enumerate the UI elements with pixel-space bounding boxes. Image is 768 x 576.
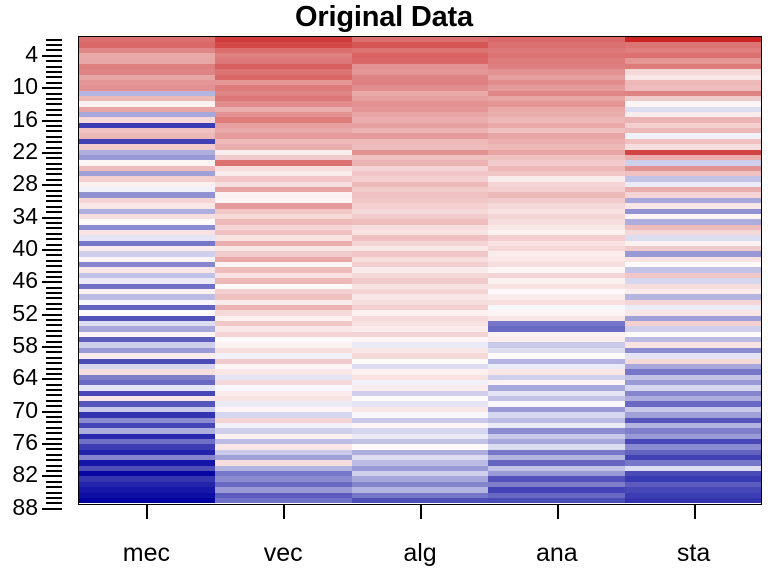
y-axis-tick bbox=[46, 303, 62, 305]
y-axis-tick bbox=[46, 222, 62, 224]
y-axis-tick bbox=[46, 362, 62, 364]
heatmap-cell bbox=[352, 498, 488, 503]
y-axis-tick bbox=[46, 179, 62, 181]
y-axis-tick bbox=[46, 330, 62, 332]
y-axis-tick-major bbox=[42, 120, 62, 122]
x-axis-tick bbox=[557, 505, 559, 519]
y-axis-tick bbox=[46, 276, 62, 278]
y-axis-tick bbox=[46, 39, 62, 41]
x-axis-tick bbox=[420, 505, 422, 519]
y-axis-tick-major bbox=[42, 475, 62, 477]
y-axis-tick bbox=[46, 432, 62, 434]
y-axis-tick-major bbox=[42, 87, 62, 89]
y-axis-tick bbox=[46, 157, 62, 159]
y-axis-tick bbox=[46, 389, 62, 391]
x-axis-label-mec: mec bbox=[123, 539, 170, 568]
heatmap-cell bbox=[625, 498, 761, 503]
y-axis-tick bbox=[46, 448, 62, 450]
y-axis-tick bbox=[46, 82, 62, 84]
y-axis-tick bbox=[46, 60, 62, 62]
x-axis: mecvecalganasta bbox=[78, 505, 762, 576]
y-axis-tick-major bbox=[42, 411, 62, 413]
y-axis-tick bbox=[46, 481, 62, 483]
y-axis-label: 22 bbox=[12, 140, 38, 163]
y-axis-tick bbox=[46, 233, 62, 235]
y-axis-tick bbox=[46, 454, 62, 456]
y-axis-tick bbox=[46, 357, 62, 359]
y-axis-tick bbox=[46, 227, 62, 229]
y-axis-label: 76 bbox=[12, 431, 38, 454]
y-axis-label: 28 bbox=[12, 172, 38, 195]
y-axis-tick bbox=[46, 470, 62, 472]
y-axis-tick bbox=[46, 147, 62, 149]
y-axis: 41016222834404652586470768288 bbox=[0, 36, 78, 505]
y-axis-tick bbox=[46, 260, 62, 262]
y-axis-tick bbox=[46, 109, 62, 111]
y-axis-tick bbox=[46, 206, 62, 208]
x-axis-label-vec: vec bbox=[264, 539, 303, 568]
y-axis-tick bbox=[46, 384, 62, 386]
y-axis-label: 10 bbox=[12, 75, 38, 98]
y-axis-tick bbox=[46, 427, 62, 429]
y-axis-tick bbox=[46, 130, 62, 132]
y-axis-tick-major bbox=[42, 281, 62, 283]
y-axis-tick-major bbox=[42, 249, 62, 251]
y-axis-tick bbox=[46, 405, 62, 407]
y-axis-tick bbox=[46, 66, 62, 68]
y-axis-tick bbox=[46, 368, 62, 370]
y-axis-tick bbox=[46, 319, 62, 321]
y-axis-label: 46 bbox=[12, 269, 38, 292]
heatmap-cell bbox=[488, 498, 624, 503]
y-axis-tick bbox=[46, 486, 62, 488]
heatmap-cell-grid bbox=[79, 37, 761, 504]
y-axis-tick bbox=[46, 324, 62, 326]
x-axis-tick bbox=[283, 505, 285, 519]
y-axis-label: 82 bbox=[12, 463, 38, 486]
y-axis-tick bbox=[46, 200, 62, 202]
y-axis-label: 34 bbox=[12, 205, 38, 228]
y-axis-tick bbox=[46, 351, 62, 353]
y-axis-label: 58 bbox=[12, 334, 38, 357]
y-axis-tick bbox=[46, 335, 62, 337]
y-axis-tick bbox=[46, 497, 62, 499]
x-axis-tick bbox=[146, 505, 148, 519]
heatmap-row bbox=[79, 498, 761, 503]
y-axis-tick bbox=[46, 308, 62, 310]
y-axis-tick bbox=[46, 438, 62, 440]
y-axis-tick bbox=[46, 71, 62, 73]
y-axis-tick-major bbox=[42, 152, 62, 154]
y-axis-label: 52 bbox=[12, 302, 38, 325]
y-axis-tick bbox=[46, 400, 62, 402]
y-axis-tick bbox=[46, 292, 62, 294]
y-axis-tick-major bbox=[42, 346, 62, 348]
y-axis-label: 64 bbox=[12, 366, 38, 389]
y-axis-tick bbox=[46, 502, 62, 504]
y-axis-tick bbox=[46, 394, 62, 396]
y-axis-tick bbox=[46, 297, 62, 299]
chart-title: Original Data bbox=[0, 1, 768, 34]
y-axis-tick-major bbox=[42, 55, 62, 57]
y-axis-tick bbox=[46, 459, 62, 461]
figure-canvas: Original Data 41016222834404652586470768… bbox=[0, 0, 768, 576]
y-axis-tick bbox=[46, 98, 62, 100]
y-axis-tick bbox=[46, 271, 62, 273]
y-axis-tick bbox=[46, 244, 62, 246]
y-axis-tick bbox=[46, 173, 62, 175]
y-axis-tick bbox=[46, 49, 62, 51]
y-axis-tick bbox=[46, 254, 62, 256]
y-axis-label: 4 bbox=[25, 43, 38, 66]
y-axis-tick bbox=[46, 238, 62, 240]
y-axis-tick bbox=[46, 465, 62, 467]
heatmap-plot-area[interactable] bbox=[78, 36, 762, 505]
y-axis-tick-major bbox=[42, 314, 62, 316]
y-axis-tick bbox=[46, 287, 62, 289]
x-axis-label-sta: sta bbox=[677, 539, 710, 568]
y-axis-tick bbox=[46, 141, 62, 143]
y-axis-tick bbox=[46, 125, 62, 127]
y-axis-tick bbox=[46, 103, 62, 105]
x-axis-label-ana: ana bbox=[536, 539, 578, 568]
heatmap-cell bbox=[215, 498, 351, 503]
y-axis-tick bbox=[46, 136, 62, 138]
y-axis-tick-major bbox=[42, 184, 62, 186]
y-axis-label: 16 bbox=[12, 108, 38, 131]
y-axis-tick bbox=[46, 492, 62, 494]
x-axis-label-alg: alg bbox=[403, 539, 436, 568]
heatmap-cell bbox=[79, 498, 215, 503]
y-axis-tick bbox=[46, 265, 62, 267]
y-axis-label: 88 bbox=[12, 496, 38, 519]
y-axis-tick bbox=[46, 211, 62, 213]
y-axis-label: 40 bbox=[12, 237, 38, 260]
y-axis-tick bbox=[46, 421, 62, 423]
y-axis-tick bbox=[46, 190, 62, 192]
x-axis-tick bbox=[694, 505, 696, 519]
y-axis-tick bbox=[46, 373, 62, 375]
y-axis-tick bbox=[46, 168, 62, 170]
y-axis-tick bbox=[46, 93, 62, 95]
y-axis-tick-major bbox=[42, 378, 62, 380]
y-axis-tick bbox=[46, 341, 62, 343]
y-axis-tick bbox=[46, 114, 62, 116]
y-axis-tick-major bbox=[42, 443, 62, 445]
y-axis-tick bbox=[46, 163, 62, 165]
y-axis-tick bbox=[46, 76, 62, 78]
y-axis-label: 70 bbox=[12, 399, 38, 422]
y-axis-tick-major bbox=[42, 217, 62, 219]
y-axis-tick bbox=[46, 195, 62, 197]
y-axis-tick bbox=[46, 416, 62, 418]
y-axis-tick-major bbox=[42, 508, 62, 510]
y-axis-tick bbox=[46, 44, 62, 46]
